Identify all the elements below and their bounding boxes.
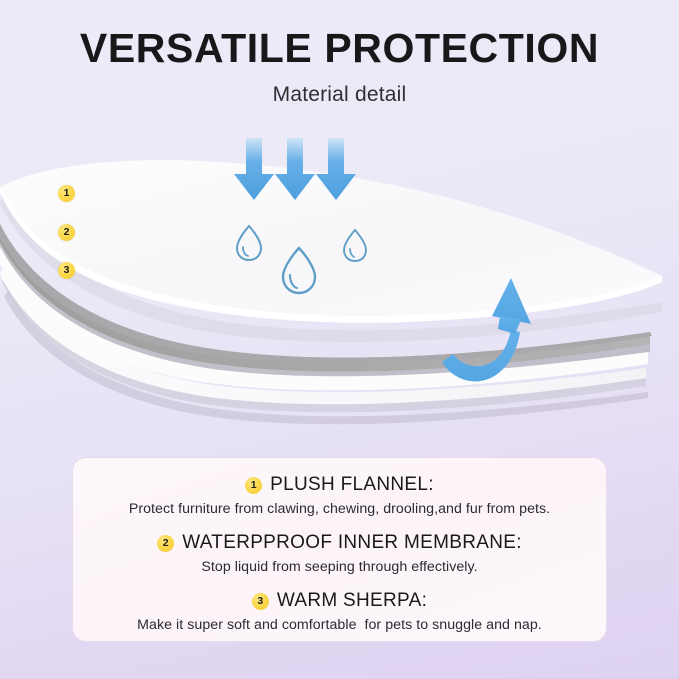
legend-heading: 1 PLUSH FLANNEL:: [87, 474, 592, 496]
material-layers-illustration: [0, 130, 679, 450]
legend-row: 3 WARM SHERPA: Make it super soft and co…: [87, 590, 592, 633]
legend-badge-1: 1: [245, 477, 262, 494]
layer-marker-1: 1: [58, 185, 75, 202]
page-title: VERSATILE PROTECTION: [0, 26, 679, 72]
header: VERSATILE PROTECTION Material detail: [0, 26, 679, 107]
infographic-page: VERSATILE PROTECTION Material detail: [0, 0, 679, 679]
legend-title-3: WARM SHERPA:: [277, 590, 427, 612]
down-arrows-group: [234, 138, 356, 200]
legend-badge-2: 2: [157, 535, 174, 552]
layer-marker-2: 2: [58, 224, 75, 241]
legend-row: 2 WATERPPROOF INNER MEMBRANE: Stop liqui…: [87, 532, 592, 575]
legend-heading: 3 WARM SHERPA:: [87, 590, 592, 612]
legend-desc-1: Protect furniture from clawing, chewing,…: [87, 501, 592, 517]
page-subtitle: Material detail: [0, 83, 679, 107]
legend-desc-3: Make it super soft and comfortable for p…: [87, 617, 592, 633]
legend-row: 1 PLUSH FLANNEL: Protect furniture from …: [87, 474, 592, 517]
legend-badge-3: 3: [252, 593, 269, 610]
legend-title-2: WATERPPROOF INNER MEMBRANE:: [182, 532, 522, 554]
legend-heading: 2 WATERPPROOF INNER MEMBRANE:: [87, 532, 592, 554]
legend-desc-2: Stop liquid from seeping through effecti…: [87, 559, 592, 575]
layers-svg: [0, 130, 679, 450]
layer-marker-3: 3: [58, 262, 75, 279]
legend-title-1: PLUSH FLANNEL:: [270, 474, 434, 496]
legend-panel: 1 PLUSH FLANNEL: Protect furniture from …: [72, 457, 607, 642]
